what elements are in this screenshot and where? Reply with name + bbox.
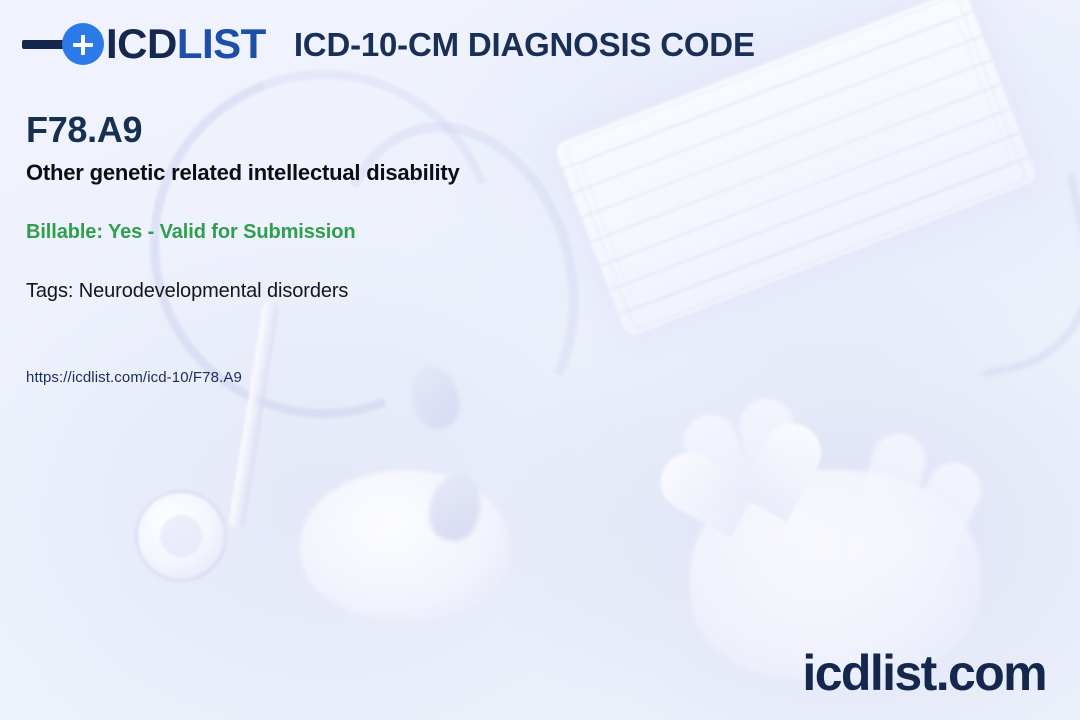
hand-finger-image <box>735 394 814 551</box>
hand-finger-image <box>843 428 932 587</box>
plus-icon-vertical-bar <box>81 35 85 55</box>
icdlist-logo[interactable]: ICD LIST <box>22 23 266 65</box>
logo-text-list: LIST <box>177 23 266 65</box>
tags-line: Tags: Neurodevelopmental disorders <box>26 280 786 303</box>
hand-finger-image <box>676 407 778 566</box>
billable-status: Billable: Yes - Valid for Submission <box>26 221 786 244</box>
plus-icon <box>62 23 104 65</box>
hand-finger-image <box>876 454 990 612</box>
stethoscope-bell-image <box>300 470 510 620</box>
page-title: ICD-10-CM DIAGNOSIS CODE <box>294 28 755 61</box>
stethoscope-ear-tip-lower <box>424 471 487 546</box>
icd-code-card: ICD LIST ICD-10-CM DIAGNOSIS CODE F78.A9… <box>0 0 1080 720</box>
logo-text-icd: ICD <box>106 23 177 65</box>
mask-strap-image <box>942 170 1080 378</box>
diagnosis-description: Other genetic related intellectual disab… <box>26 159 786 187</box>
site-watermark: icdlist.com <box>802 648 1046 698</box>
diagnosis-code: F78.A9 <box>26 108 786 151</box>
page-header: ICD LIST ICD-10-CM DIAGNOSIS CODE <box>0 0 1080 88</box>
code-details: F78.A9 Other genetic related intellectua… <box>26 108 786 386</box>
source-url[interactable]: https://icdlist.com/icd-10/F78.A9 <box>26 369 786 386</box>
stethoscope-chest-piece-image <box>135 490 227 582</box>
paper-heart-image <box>677 427 816 566</box>
